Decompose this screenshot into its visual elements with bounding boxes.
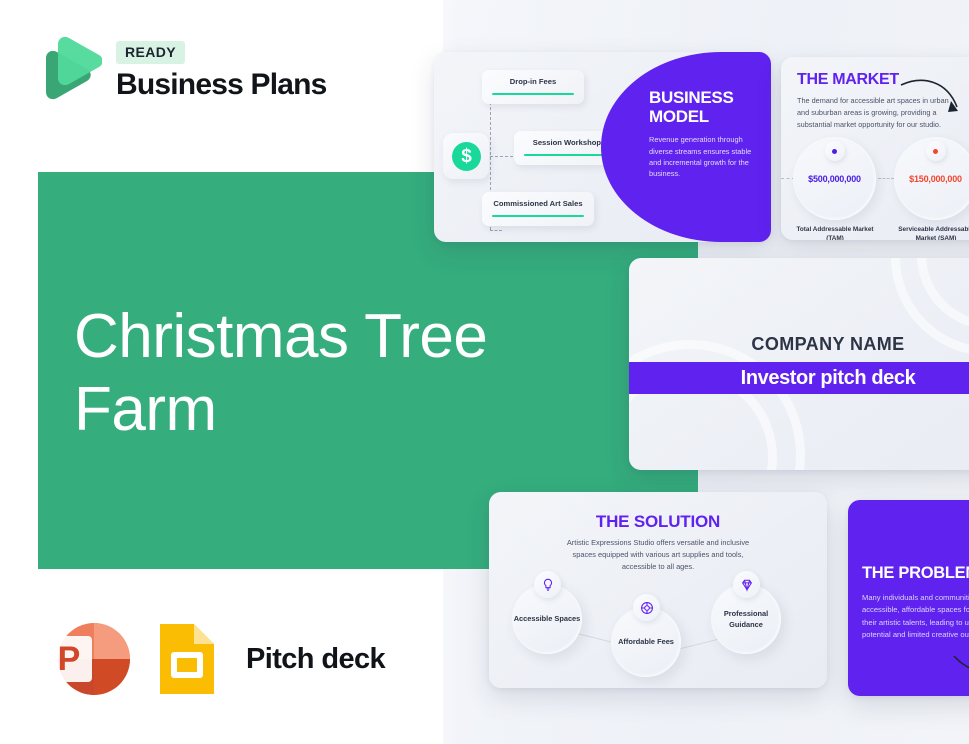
slide-business-model[interactable]: $ Drop-in Fees Session Workshops Commiss… [434,52,771,242]
revenue-node-label: Commissioned Art Sales [492,199,584,208]
market-metric-label: Total Addressable Market (TAM) [789,225,881,240]
solution-connector [676,639,719,651]
slide-the-problem[interactable]: THE PROBLEM Many individuals and communi… [848,500,969,696]
brand-logo[interactable]: READY Business Plans [40,36,327,106]
business-model-description: Revenue generation through diverse strea… [649,134,759,180]
problem-title: THE PROBLEM [862,564,969,583]
solution-item-label: Accessible Spaces [514,613,581,624]
page-root: READY Business Plans Christmas Tree Farm… [0,0,969,744]
google-slides-icon[interactable] [156,620,218,698]
market-metric-circle: $500,000,000 [793,137,876,220]
play-triangle-logo-icon [40,36,102,106]
investor-pitch-band: Investor pitch deck [629,362,969,394]
target-icon [633,594,660,621]
market-metric-value: $150,000,000 [909,174,962,184]
company-name-label: COMPANY NAME [629,334,969,355]
brand-name: Business Plans [116,68,327,102]
solution-item-label: Professional Guidance [711,608,781,630]
market-metric-label: Serviceable Addressable Market (SAM) [890,225,969,240]
metric-dot [926,141,946,161]
revenue-node[interactable]: Drop-in Fees [482,70,584,104]
solution-item-label: Affordable Fees [618,636,674,647]
file-formats-label: Pitch deck [246,643,385,676]
slide-company-name[interactable]: COMPANY NAME Investor pitch deck [629,258,969,470]
revenue-node-label: Drop-in Fees [492,77,574,86]
powerpoint-icon[interactable]: P [42,620,134,698]
ready-badge: READY [116,41,185,64]
market-title: THE MARKET [797,71,899,89]
market-description: The demand for accessible art spaces in … [797,95,957,130]
lightbulb-icon [534,571,561,598]
page-title: Christmas Tree Farm [74,300,594,446]
market-dash-mid [878,178,894,179]
market-metric-value: $500,000,000 [808,174,861,184]
file-formats: P Pitch deck [42,620,385,698]
business-model-panel: BUSINESS MODEL Revenue generation throug… [601,52,771,242]
diamond-icon [733,571,760,598]
connector-bottom [490,230,502,231]
slide-the-market[interactable]: THE MARKET The demand for accessible art… [781,57,969,240]
metric-dot [825,141,845,161]
market-metric-circle: $150,000,000 [894,137,969,220]
investor-pitch-label: Investor pitch deck [741,367,916,390]
brand-text: READY Business Plans [116,41,327,102]
solution-description: Artistic Expressions Studio offers versa… [561,537,755,573]
slide-the-solution[interactable]: THE SOLUTION Artistic Expressions Studio… [489,492,827,688]
svg-text:P: P [58,640,81,678]
dollar-circle-icon: $ [452,142,481,171]
solution-title: THE SOLUTION [489,512,827,532]
business-model-title: BUSINESS MODEL [649,88,759,126]
revenue-node[interactable]: Commissioned Art Sales [482,192,594,226]
problem-arrow-icon [952,652,969,686]
problem-description: Many individuals and communities lack ac… [862,592,969,641]
